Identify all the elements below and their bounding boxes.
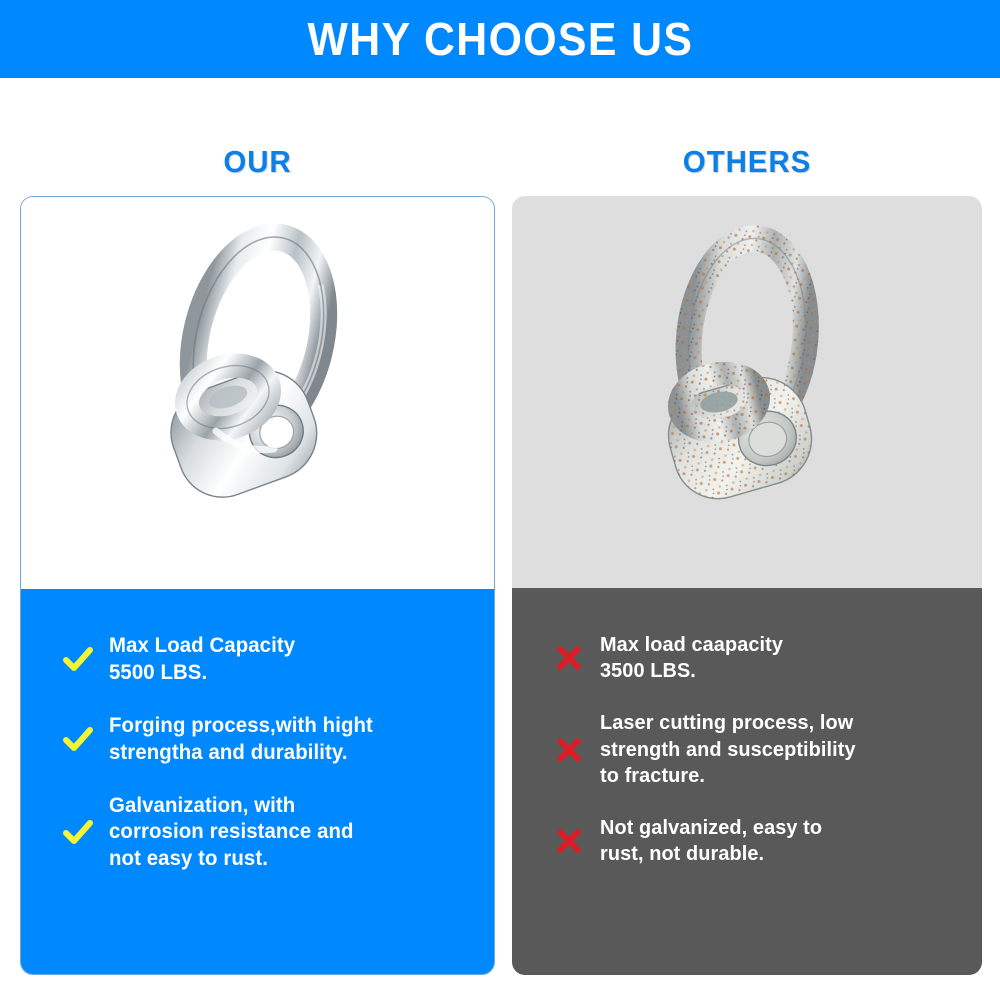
fact-text: Not galvanized, easy to rust, not durabl… xyxy=(600,815,822,867)
column-heading-our: OUR xyxy=(32,144,483,180)
fact-row: Max load caapacity 3500 LBS. xyxy=(538,632,956,684)
fact-row: Laser cutting process, low strength and … xyxy=(538,710,956,789)
fact-text: Galvanization, with corrosion resistance… xyxy=(109,793,354,874)
facts-list-our: Max Load Capacity 5500 LBS. Forging proc… xyxy=(21,589,494,975)
fact-text: Max Load Capacity 5500 LBS. xyxy=(109,633,295,687)
fact-row: Galvanization, with corrosion resistance… xyxy=(47,793,468,874)
cross-icon xyxy=(538,737,600,763)
comparison-card-others: Max load caapacity 3500 LBS. Laser cutti… xyxy=(512,196,982,975)
comparison-card-our: Max Load Capacity 5500 LBS. Forging proc… xyxy=(20,196,495,975)
cross-icon xyxy=(538,645,600,671)
check-icon xyxy=(47,727,109,753)
fact-row: Not galvanized, easy to rust, not durabl… xyxy=(538,815,956,867)
page-title: WHY CHOOSE US xyxy=(307,12,693,66)
fact-text: Laser cutting process, low strength and … xyxy=(600,710,856,789)
fact-text: Forging process,with hight strengtha and… xyxy=(109,713,373,767)
chrome-anchor-ring-illustration xyxy=(108,221,408,571)
header-banner: WHY CHOOSE US xyxy=(0,0,1000,78)
check-icon xyxy=(47,820,109,846)
cross-icon xyxy=(538,828,600,854)
product-image-others xyxy=(512,196,982,588)
fact-row: Max Load Capacity 5500 LBS. xyxy=(47,633,468,687)
fact-text: Max load caapacity 3500 LBS. xyxy=(600,632,783,684)
facts-list-others: Max load caapacity 3500 LBS. Laser cutti… xyxy=(512,588,982,975)
rusty-anchor-ring-illustration xyxy=(597,220,897,570)
check-icon xyxy=(47,647,109,673)
fact-row: Forging process,with hight strengtha and… xyxy=(47,713,468,767)
column-heading-others: OTHERS xyxy=(524,144,971,180)
product-image-our xyxy=(21,197,494,589)
